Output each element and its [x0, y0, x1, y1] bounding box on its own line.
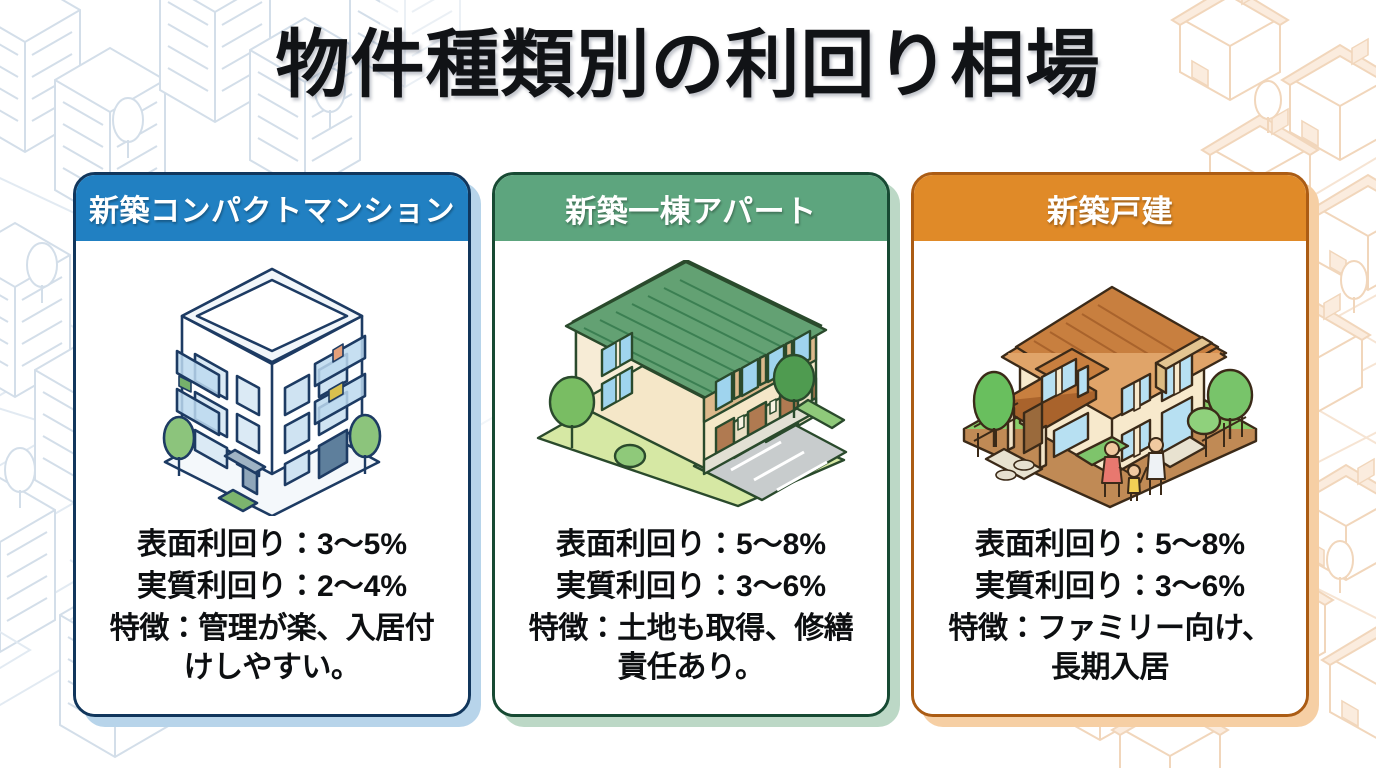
feature-2-line1: 特徴：土地も取得、修繕	[529, 612, 854, 645]
property-type-card-group: 新築コンパクトマンション	[0, 172, 1376, 732]
card-header-new-one-building-apartment: 新築一棟アパート	[495, 175, 887, 241]
card-stats-new-detached-house: 表面利回り：5〜8% 実質利回り：3〜6% 特徴：ファミリー向け、 長期入居	[914, 525, 1306, 714]
card-new-compact-mansion[interactable]: 新築コンパクトマンション	[73, 172, 471, 717]
feature-1: 特徴：管理が楽、入居付 けしやすい。	[110, 609, 435, 687]
card-body-new-one-building-apartment: 表面利回り：5〜8% 実質利回り：3〜6% 特徴：土地も取得、修繕 責任あり。	[495, 241, 887, 714]
feature-1-line1: 特徴：管理が楽、入居付	[110, 612, 435, 645]
feature-2-line2: 責任あり。	[529, 648, 854, 687]
card-body-new-compact-mansion: 表面利回り：3〜5% 実質利回り：2〜4% 特徴：管理が楽、入居付 けしやすい。	[76, 241, 468, 714]
gross-yield-3: 表面利回り：5〜8%	[975, 525, 1245, 565]
card-body-new-detached-house: 表面利回り：5〜8% 実質利回り：3〜6% 特徴：ファミリー向け、 長期入居	[914, 241, 1306, 714]
net-yield-3: 実質利回り：3〜6%	[975, 567, 1245, 607]
page-title: 物件種類別の利回り相場	[0, 26, 1376, 104]
card-new-detached-house[interactable]: 新築戸建	[911, 172, 1309, 717]
net-yield-2: 実質利回り：3〜6%	[556, 567, 826, 607]
detached-house-illustration	[914, 241, 1306, 525]
card-header-new-detached-house: 新築戸建	[914, 175, 1306, 241]
card-header-new-compact-mansion: 新築コンパクトマンション	[76, 175, 468, 241]
gross-yield-2: 表面利回り：5〜8%	[556, 525, 826, 565]
gross-yield-1: 表面利回り：3〜5%	[137, 525, 407, 565]
feature-1-line2: けしやすい。	[110, 648, 435, 687]
two-story-apartment-illustration	[495, 241, 887, 525]
feature-3: 特徴：ファミリー向け、 長期入居	[949, 609, 1272, 687]
card-stats-new-one-building-apartment: 表面利回り：5〜8% 実質利回り：3〜6% 特徴：土地も取得、修繕 責任あり。	[495, 525, 887, 714]
net-yield-1: 実質利回り：2〜4%	[137, 567, 407, 607]
feature-3-line2: 長期入居	[949, 648, 1272, 687]
apartment-building-illustration	[76, 241, 468, 525]
feature-2: 特徴：土地も取得、修繕 責任あり。	[529, 609, 854, 687]
card-stats-new-compact-mansion: 表面利回り：3〜5% 実質利回り：2〜4% 特徴：管理が楽、入居付 けしやすい。	[76, 525, 468, 714]
card-new-one-building-apartment[interactable]: 新築一棟アパート	[492, 172, 890, 717]
feature-3-line1: 特徴：ファミリー向け、	[949, 612, 1272, 645]
